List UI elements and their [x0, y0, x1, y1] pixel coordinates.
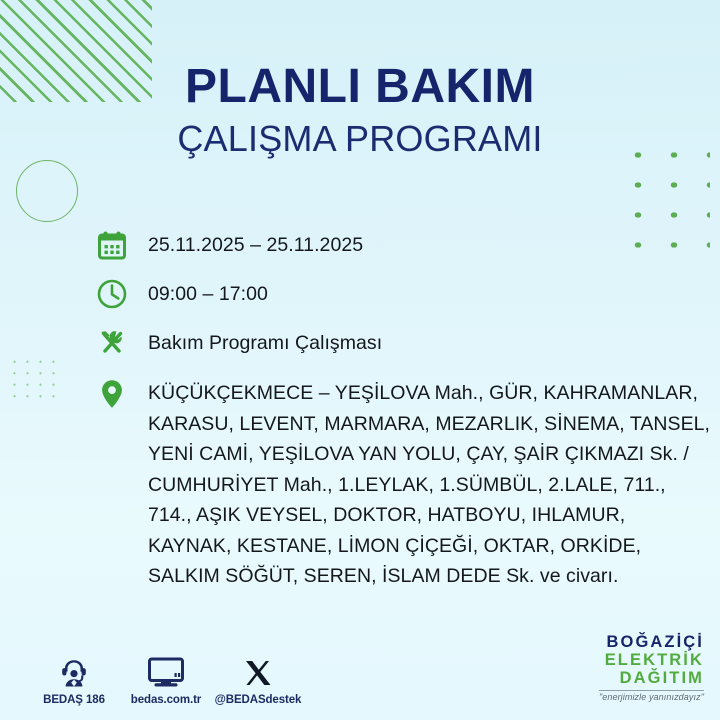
contact-social[interactable]: @BEDASdestek [212, 651, 304, 706]
page-title: PLANLI BAKIM [0, 62, 720, 113]
brand-line-elektrik: ELEKTRİK [599, 651, 704, 669]
work-type-text: Bakım Programı Çalışması [148, 326, 710, 359]
contact-social-label: @BEDASdestek [212, 694, 304, 706]
dot-grid-left-decoration [8, 356, 58, 402]
contact-phone[interactable]: BEDAŞ 186 [28, 651, 120, 706]
bedas-logo: BOĞAZİÇİ ELEKTRİK DAĞITIM "enerjimizle y… [599, 633, 704, 702]
monitor-icon [120, 651, 212, 689]
brand-line-dagitim: DAĞITIM [599, 669, 704, 687]
brand-line-bogazici: BOĞAZİÇİ [599, 633, 704, 651]
date-range-text: 25.11.2025 – 25.11.2025 [148, 228, 710, 261]
page-subtitle: ÇALIŞMA PROGRAMI [0, 117, 720, 160]
planned-maintenance-poster: PLANLI BAKIM ÇALIŞMA PROGRAMI 25 [0, 0, 720, 720]
affected-areas-text: KÜÇÜKÇEKMECE – YEŞİLOVA Mah., GÜR, KAHRA… [148, 375, 710, 592]
detail-row-date: 25.11.2025 – 25.11.2025 [96, 228, 710, 262]
brand-tagline: "enerjimizle yanınızdayız" [599, 690, 704, 702]
detail-row-location: KÜÇÜKÇEKMECE – YEŞİLOVA Mah., GÜR, KAHRA… [96, 375, 710, 592]
poster-header: PLANLI BAKIM ÇALIŞMA PROGRAMI [0, 62, 720, 160]
footer-contacts: BEDAŞ 186 bedas.com.tr @BEDASdestek [28, 651, 304, 706]
x-twitter-icon [212, 651, 304, 689]
headset-support-icon [28, 651, 120, 689]
detail-row-worktype: Bakım Programı Çalışması [96, 326, 710, 360]
contact-phone-label: BEDAŞ 186 [28, 694, 120, 706]
calendar-icon [96, 228, 148, 262]
circle-outline-decoration [16, 160, 78, 222]
location-pin-icon [96, 375, 148, 411]
time-range-text: 09:00 – 17:00 [148, 277, 710, 310]
contact-website-label: bedas.com.tr [120, 694, 212, 706]
maintenance-details: 25.11.2025 – 25.11.2025 09:00 – 17:00 [96, 228, 710, 592]
contact-website[interactable]: bedas.com.tr [120, 651, 212, 706]
clock-icon [96, 277, 148, 311]
tools-icon [96, 326, 148, 360]
detail-row-time: 09:00 – 17:00 [96, 277, 710, 311]
